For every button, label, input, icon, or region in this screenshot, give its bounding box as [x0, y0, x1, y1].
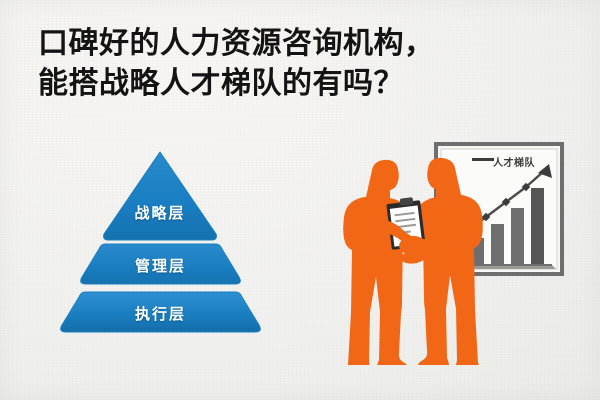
pyramid-tier-strategy[interactable]: 战略层 [100, 150, 220, 242]
triangle-shape [100, 150, 220, 242]
pyramid-tier-label: 管理层 [78, 255, 243, 276]
chart-legend-label: 人才梯队 [493, 154, 535, 169]
infographic-canvas: 口碑好的人力资源咨询机构， 能搭战略人才梯队的有吗？ [0, 0, 600, 400]
pyramid-tier-execution[interactable]: 执行层 [58, 291, 263, 333]
handshake-illustration [320, 140, 580, 365]
pyramid-diagram: 战略层 管理层 执行层 [40, 148, 290, 348]
page-title: 口碑好的人力资源咨询机构， 能搭战略人才梯队的有吗？ [38, 24, 558, 104]
pyramid-tier-management[interactable]: 管理层 [78, 243, 243, 285]
headline-line-2: 能搭战略人才梯队的有吗？ [38, 64, 558, 104]
chart-legend-marker [472, 158, 494, 161]
headline-line-1: 口碑好的人力资源咨询机构， [38, 24, 558, 64]
pyramid-tier-label: 战略层 [100, 202, 220, 223]
pyramid-tier-label: 执行层 [58, 303, 263, 324]
